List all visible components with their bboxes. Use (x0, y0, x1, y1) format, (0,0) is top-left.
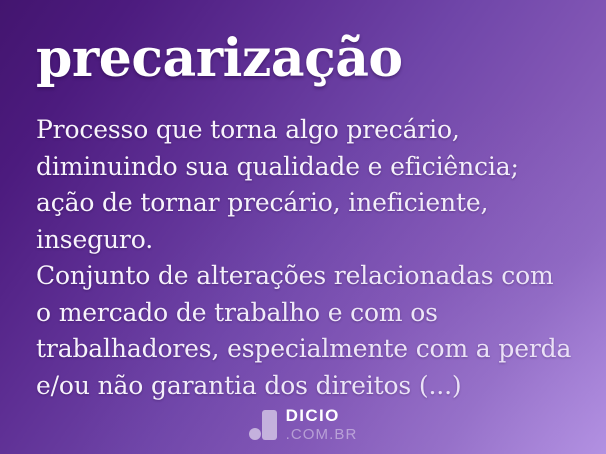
definition-line: inseguro. (36, 222, 581, 259)
definition-line: Processo que torna algo precário, (36, 112, 581, 149)
definition-line: Conjunto de alterações relacionadas com (36, 258, 581, 295)
definition-line: e/ou não garantia dos direitos (...) (36, 368, 581, 405)
definition-line: ação de tornar precário, ineficiente, (36, 185, 581, 222)
logo-domain: .COM.BR (286, 427, 358, 442)
page-title: precarização (36, 30, 403, 88)
definition-line: o mercado de trabalho e com os (36, 295, 581, 332)
dicio-logo: DICIO .COM.BR (0, 407, 606, 442)
logo-name: DICIO (286, 407, 358, 424)
logo-bar-shape (262, 410, 277, 440)
definition-line: diminuindo sua qualidade e eficiência; (36, 149, 581, 186)
definition-card: precarização Processo que torna algo pre… (0, 0, 606, 454)
dicio-bar-dot-icon (249, 410, 277, 440)
definition-text: Processo que torna algo precário, diminu… (36, 112, 581, 404)
logo-wordmark: DICIO .COM.BR (286, 407, 358, 442)
logo-dot-shape (249, 428, 261, 440)
definition-line: trabalhadores, especialmente com a perda (36, 331, 581, 368)
